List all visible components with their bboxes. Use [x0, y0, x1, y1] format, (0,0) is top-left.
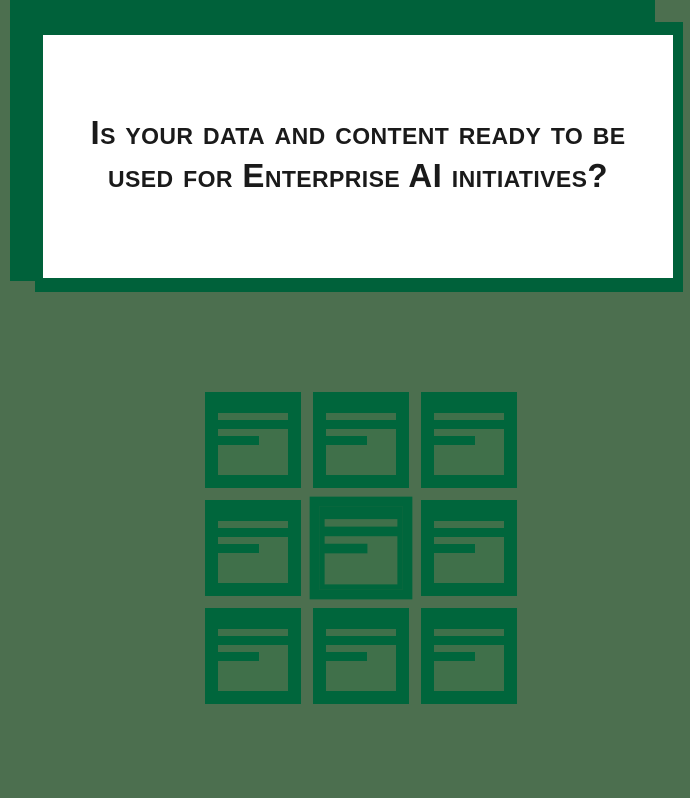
- document-text-lines: [431, 512, 507, 586]
- document-line: [320, 544, 367, 554]
- document-line: [431, 544, 475, 553]
- document-line: [215, 420, 291, 429]
- document-icon: [421, 392, 517, 488]
- slide-canvas: Is your data and content ready to be use…: [0, 0, 690, 798]
- document-line: [431, 512, 507, 521]
- document-line: [323, 404, 399, 413]
- document-text-lines: [431, 620, 507, 694]
- document-icon: [205, 500, 301, 596]
- document-line: [431, 652, 475, 661]
- document-grid: [205, 392, 517, 704]
- document-line: [431, 620, 507, 629]
- document-line: [431, 636, 507, 645]
- document-line: [431, 420, 507, 429]
- document-line: [215, 404, 291, 413]
- document-line: [323, 636, 399, 645]
- document-line: [323, 620, 399, 629]
- document-line: [215, 528, 291, 537]
- document-line: [215, 652, 259, 661]
- document-line: [215, 512, 291, 521]
- document-line: [320, 527, 401, 537]
- document-icon: [310, 497, 413, 600]
- document-line: [323, 436, 367, 445]
- question-card: Is your data and content ready to be use…: [43, 35, 673, 278]
- document-text-lines: [320, 509, 401, 588]
- document-icon: [313, 608, 409, 704]
- document-line: [215, 544, 259, 553]
- document-icon: [313, 392, 409, 488]
- document-icon: [421, 500, 517, 596]
- document-line: [215, 436, 259, 445]
- document-line: [323, 652, 367, 661]
- document-line: [431, 436, 475, 445]
- document-line: [215, 620, 291, 629]
- document-text-lines: [215, 404, 291, 478]
- document-icon: [205, 608, 301, 704]
- page-title: Is your data and content ready to be use…: [61, 112, 655, 198]
- document-text-lines: [215, 620, 291, 694]
- document-icon: [421, 608, 517, 704]
- document-line: [431, 404, 507, 413]
- document-text-lines: [323, 620, 399, 694]
- document-line: [323, 420, 399, 429]
- document-text-lines: [431, 404, 507, 478]
- document-line: [320, 509, 401, 519]
- document-line: [215, 636, 291, 645]
- document-text-lines: [215, 512, 291, 586]
- document-line: [431, 528, 507, 537]
- document-icon: [205, 392, 301, 488]
- document-text-lines: [323, 404, 399, 478]
